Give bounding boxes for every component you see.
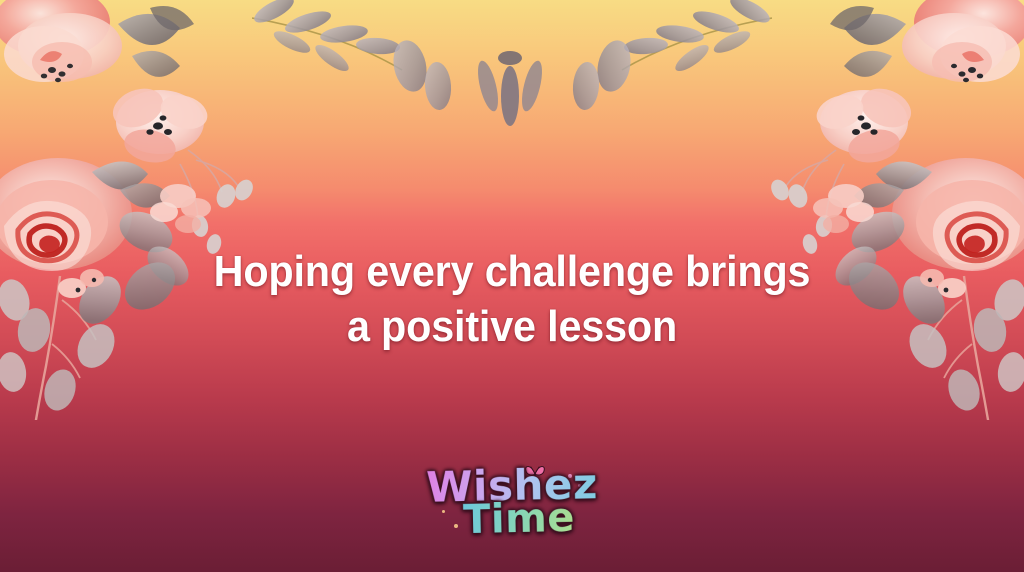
flower-top-left [0,0,122,82]
blossom-mid-left [107,82,212,167]
quote-line-2: a positive lesson [31,299,994,354]
branch-left-of-center [252,0,453,111]
wishez-time-logo[interactable]: Wishez Time [402,466,622,538]
center-sprout [474,51,546,126]
logo-word-time: Time [416,498,623,540]
quote-card: Hoping every challenge brings a positive… [0,0,1024,572]
branch-right-of-center [571,0,772,111]
leaf-branch-top-center [252,0,772,150]
leaf-sprig-top [118,6,194,77]
quote-line-1: Hoping every challenge brings [31,244,994,299]
quote-text: Hoping every challenge brings a positive… [0,244,1024,354]
